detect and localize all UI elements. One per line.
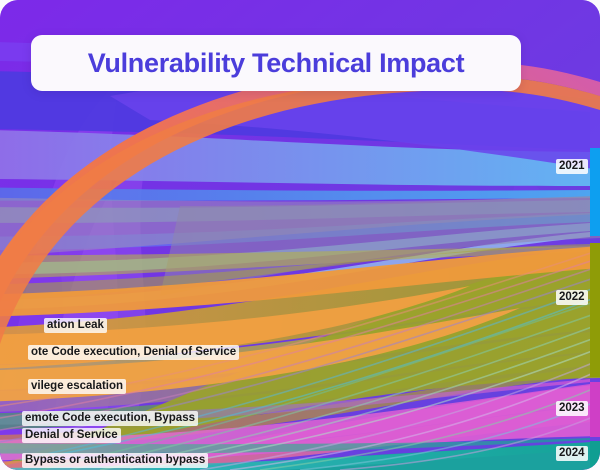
year-label-2021[interactable]: 2021 (556, 159, 588, 174)
node-bar-2024[interactable] (590, 441, 600, 470)
source-label-rce-dos[interactable]: ote Code execution, Denial of Service (28, 345, 239, 360)
node-bar-2023[interactable] (590, 382, 600, 437)
year-label-2023[interactable]: 2023 (556, 401, 588, 416)
node-bar-2022[interactable] (590, 243, 600, 377)
node-bar-2021[interactable] (590, 148, 600, 236)
source-label-information-leak[interactable]: ation Leak (44, 318, 107, 333)
page-title: Vulnerability Technical Impact (88, 48, 465, 79)
source-label-privilege-escalation[interactable]: vilege escalation (28, 379, 126, 394)
chart-title-banner: Vulnerability Technical Impact (31, 35, 521, 91)
source-label-bypass-or-authentication-bypass[interactable]: Bypass or authentication bypass (22, 453, 208, 468)
source-label-denial-of-service[interactable]: Denial of Service (22, 428, 121, 443)
chart-card: Vulnerability Technical Impact ation Lea… (0, 0, 600, 470)
year-label-2022[interactable]: 2022 (556, 290, 588, 305)
source-label-rce-bypass[interactable]: emote Code execution, Bypass (22, 411, 198, 426)
year-label-2024[interactable]: 2024 (556, 446, 588, 461)
